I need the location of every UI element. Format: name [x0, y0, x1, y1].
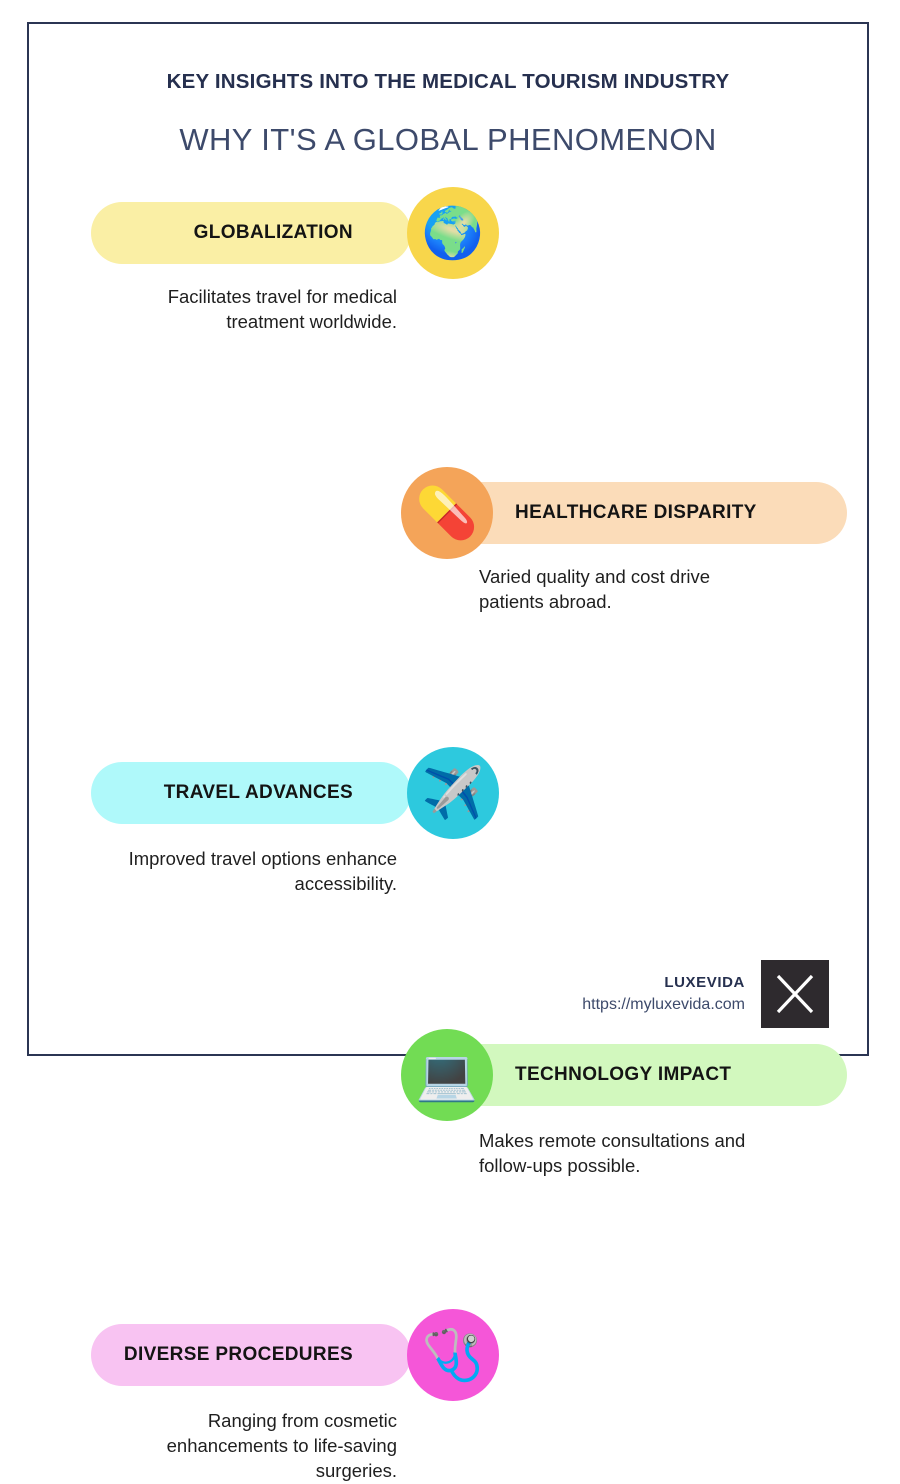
footer-text: LUXEVIDA https://myluxevida.com: [582, 972, 745, 1017]
insight-pill[interactable]: HEALTHCARE DISPARITY: [437, 482, 847, 544]
insight-pill[interactable]: TRAVEL ADVANCES: [91, 762, 411, 824]
globe-showing-europe-africa-icon: 🌍: [407, 187, 499, 279]
pill-capsule-icon: 💊: [401, 467, 493, 559]
insight-description: Facilitates travel for medical treatment…: [97, 285, 397, 335]
insight-pill[interactable]: TECHNOLOGY IMPACT: [437, 1044, 847, 1106]
insight-label: TECHNOLOGY IMPACT: [515, 1064, 731, 1086]
insight-pill[interactable]: GLOBALIZATION: [91, 202, 411, 264]
insight-description: Varied quality and cost drive patients a…: [479, 565, 779, 615]
footer-branding: LUXEVIDA https://myluxevida.com: [582, 960, 829, 1028]
airplane-icon: ✈️: [407, 747, 499, 839]
insight-label: DIVERSE PROCEDURES: [124, 1344, 353, 1366]
insight-label: TRAVEL ADVANCES: [164, 782, 353, 804]
brand-name: LUXEVIDA: [582, 972, 745, 995]
insight-description: Improved travel options enhance accessib…: [97, 847, 397, 897]
infographic-poster: KEY INSIGHTS INTO THE MEDICAL TOURISM IN…: [27, 22, 869, 1056]
laptop-computer-icon: 💻: [401, 1029, 493, 1121]
insight-label: GLOBALIZATION: [194, 222, 353, 244]
insight-pill[interactable]: DIVERSE PROCEDURES: [91, 1324, 411, 1386]
insight-description: Makes remote consultations and follow-up…: [479, 1129, 779, 1179]
page-title: WHY IT'S A GLOBAL PHENOMENON: [29, 121, 867, 158]
brand-logo: [761, 960, 829, 1028]
brand-url[interactable]: https://myluxevida.com: [582, 994, 745, 1016]
poster-header: KEY INSIGHTS INTO THE MEDICAL TOURISM IN…: [29, 24, 867, 158]
poster-kicker: KEY INSIGHTS INTO THE MEDICAL TOURISM IN…: [29, 70, 867, 95]
insight-label: HEALTHCARE DISPARITY: [515, 502, 757, 524]
insight-description: Ranging from cosmetic enhancements to li…: [97, 1409, 397, 1484]
stethoscope-icon: 🩺: [407, 1309, 499, 1401]
